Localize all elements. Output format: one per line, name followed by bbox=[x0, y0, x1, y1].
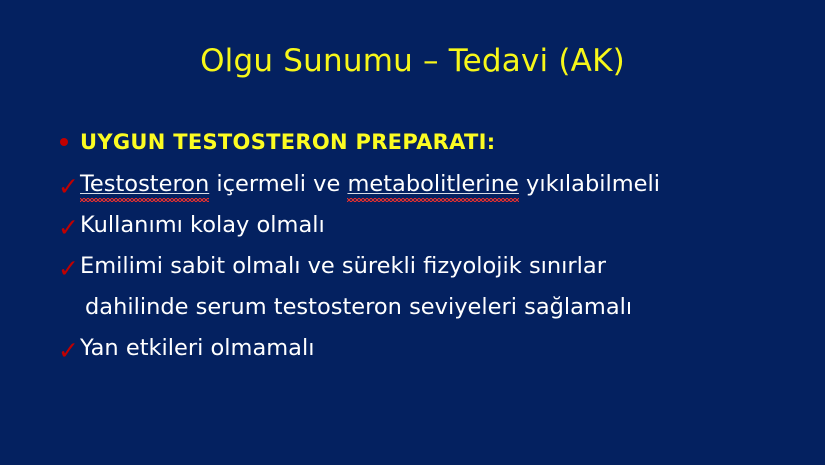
checklist-item-continuation-text: dahilinde serum testosteron seviyeleri s… bbox=[85, 294, 632, 320]
bullet-item-heading: UYGUN TESTOSTERON PREPARATI: bbox=[52, 121, 792, 164]
checklist-item: ✓ Kullanımı kolay olmalı bbox=[52, 205, 792, 246]
check-icon: ✓ bbox=[58, 330, 79, 371]
checklist-item: ✓ Emilimi sabit olmalı ve sürekli fizyol… bbox=[52, 246, 792, 287]
slide-body: UYGUN TESTOSTERON PREPARATI: ✓ Testoster… bbox=[52, 121, 792, 369]
bullet-dot-icon bbox=[60, 138, 68, 146]
checklist-item: ✓ Yan etkileri olmamalı bbox=[52, 328, 792, 369]
page-title: Olgu Sunumu – Tedavi (AK) bbox=[0, 43, 825, 79]
bullet-item-heading-label: UYGUN TESTOSTERON PREPARATI: bbox=[80, 130, 495, 154]
checklist-item-text: yıkılabilmeli bbox=[519, 171, 660, 197]
checklist-item-text: Yan etkileri olmamalı bbox=[80, 335, 314, 361]
check-icon: ✓ bbox=[58, 166, 79, 207]
check-icon: ✓ bbox=[58, 248, 79, 289]
checklist-item-text: Emilimi sabit olmalı ve sürekli fizyoloj… bbox=[80, 253, 606, 279]
checklist-item: ✓ Testosteron içermeli ve metabolitlerin… bbox=[52, 164, 792, 205]
checklist-item-text-misspelled: metabolitlerine bbox=[347, 171, 518, 197]
checklist-item-text: Kullanımı kolay olmalı bbox=[80, 212, 325, 238]
check-icon: ✓ bbox=[58, 207, 79, 248]
checklist-item-continuation: dahilinde serum testosteron seviyeleri s… bbox=[52, 287, 792, 328]
checklist-item-text: içermeli ve bbox=[209, 171, 347, 197]
presentation-slide: Olgu Sunumu – Tedavi (AK) UYGUN TESTOSTE… bbox=[0, 0, 825, 465]
checklist-item-text-misspelled: Testosteron bbox=[80, 171, 209, 197]
